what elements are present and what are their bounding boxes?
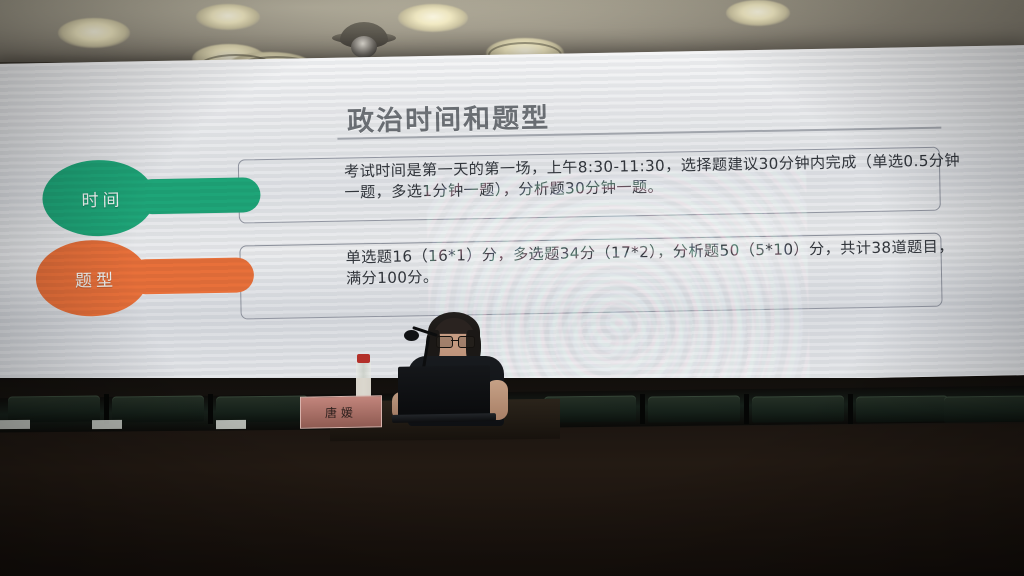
glasses-icon [436,336,474,346]
projection-screen: 政治时间和题型 考试时间是第一天的第一场，上午8:30-11:30，选择题建议3… [0,45,1024,394]
presenter-name: 唐媛 [325,403,357,421]
laptop-screen [398,365,490,417]
table-name-card [216,420,246,429]
chair [8,395,100,422]
ceiling-downlight [398,4,468,32]
chair [752,395,844,422]
glasses-lens-left [436,336,453,348]
ceiling-downlight [726,0,790,26]
microphone-icon [404,330,419,341]
water-bottle-label [356,378,371,396]
chair-divider [640,394,645,424]
chair-divider [208,394,213,424]
glasses-lens-right [458,336,475,348]
chair [112,395,204,422]
water-bottle-cap [357,354,370,363]
table-name-card [0,420,30,429]
ceiling-downlight [196,4,260,30]
presenter-name-card: 唐媛 [300,395,382,428]
ceiling-downlight [58,18,130,48]
chair-divider [744,394,749,424]
chair-divider [848,394,853,424]
chair [648,395,740,422]
lecture-hall-photo: 政治时间和题型 考试时间是第一天的第一场，上午8:30-11:30，选择题建议3… [0,0,1024,576]
chair [944,395,1024,422]
screen-scanlines [0,45,1024,394]
table-name-card [92,420,122,429]
chair [216,395,308,422]
chair [856,395,948,422]
head-table [0,424,1024,576]
